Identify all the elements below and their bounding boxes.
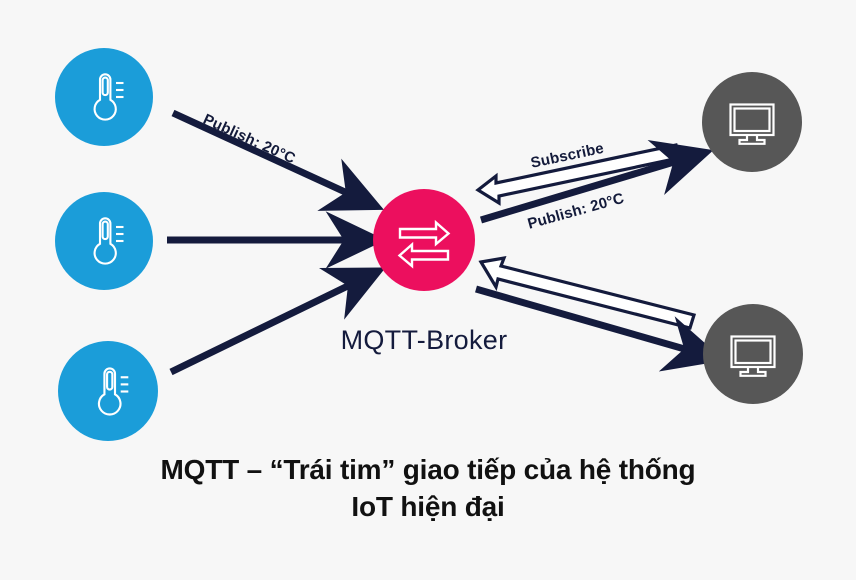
thermometer-icon — [77, 360, 140, 423]
caption-line-1: MQTT – “Trái tim” giao tiếp của hệ thống — [0, 452, 856, 489]
thermometer-icon — [73, 66, 135, 128]
client-bottom[interactable] — [703, 304, 803, 404]
label-publish-client-top: Publish: 20°C — [526, 190, 626, 233]
client-top[interactable] — [702, 72, 802, 172]
label-publish-sensor-top: Publish: 20°C — [200, 111, 298, 168]
broker-label: MQTT-Broker — [314, 325, 534, 356]
sensor-bottom[interactable] — [58, 341, 158, 441]
exchange-arrows-icon — [392, 208, 456, 272]
monitor-icon — [723, 93, 781, 151]
mqtt-broker-node[interactable] — [373, 189, 475, 291]
sensor-middle[interactable] — [55, 192, 153, 290]
monitor-icon — [724, 325, 782, 383]
figure-caption: MQTT – “Trái tim” giao tiếp của hệ thống… — [0, 452, 856, 526]
thermometer-icon — [73, 210, 135, 272]
sensor-top[interactable] — [55, 48, 153, 146]
label-subscribe-client-top: Subscribe — [529, 140, 605, 172]
arrow-client-bottom-subscribe — [481, 258, 694, 328]
caption-line-2: IoT hiện đại — [0, 489, 856, 526]
diagram-canvas: MQTT-Broker Publish: 20°C Subscribe Publ… — [0, 0, 856, 580]
